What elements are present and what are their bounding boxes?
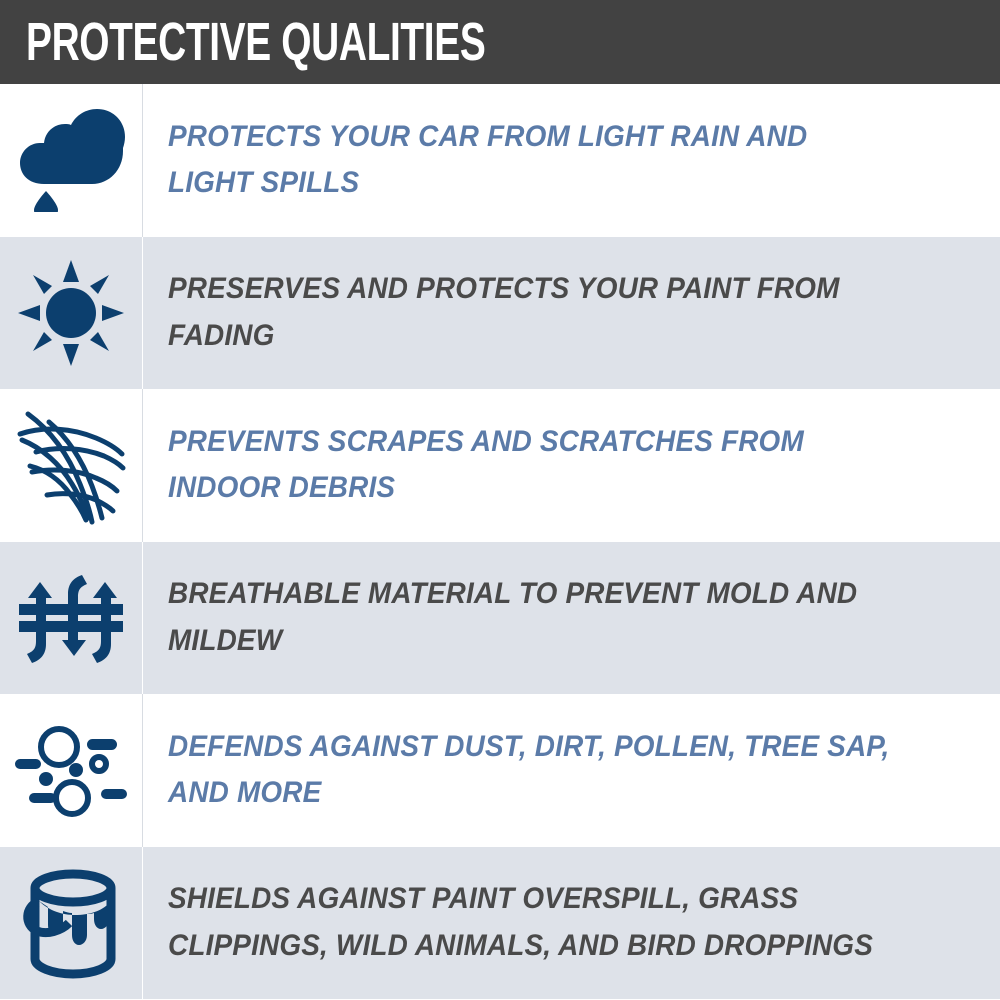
- dust-particles-icon: [13, 719, 129, 821]
- infographic-page: PROTECTIVE QUALITIES PROTECTS YOUR CAR F…: [0, 0, 1000, 1000]
- feature-text: PREVENTS SCRAPES AND SCRATCHES FROM INDO…: [168, 419, 804, 512]
- feature-text: DEFENDS AGAINST DUST, DIRT, POLLEN, TREE…: [168, 724, 889, 817]
- feature-row: PRESERVES AND PROTECTS YOUR PAINT FROM F…: [0, 237, 1000, 390]
- breathable-airflow-icon: [17, 564, 125, 672]
- feature-list: PROTECTS YOUR CAR FROM LIGHT RAIN AND LI…: [0, 84, 1000, 999]
- page-title: PROTECTIVE QUALITIES: [26, 15, 485, 69]
- feature-row: BREATHABLE MATERIAL TO PREVENT MOLD AND …: [0, 542, 1000, 695]
- feature-text: PRESERVES AND PROTECTS YOUR PAINT FROM F…: [168, 266, 840, 359]
- rain-cloud-icon: [16, 108, 126, 212]
- text-cell: PRESERVES AND PROTECTS YOUR PAINT FROM F…: [143, 237, 1000, 390]
- feature-text: SHIELDS AGAINST PAINT OVERSPILL, GRASS C…: [168, 876, 873, 969]
- icon-cell: [0, 847, 143, 1000]
- paint-can-icon: [17, 867, 125, 979]
- icon-cell: [0, 694, 143, 847]
- text-cell: PREVENTS SCRAPES AND SCRATCHES FROM INDO…: [143, 389, 1000, 542]
- text-cell: SHIELDS AGAINST PAINT OVERSPILL, GRASS C…: [143, 847, 1000, 1000]
- icon-cell: [0, 389, 143, 542]
- icon-cell: [0, 84, 143, 237]
- icon-cell: [0, 542, 143, 695]
- feature-row: PREVENTS SCRAPES AND SCRATCHES FROM INDO…: [0, 389, 1000, 542]
- feature-row: SHIELDS AGAINST PAINT OVERSPILL, GRASS C…: [0, 847, 1000, 1000]
- sun-icon: [18, 260, 124, 366]
- feature-row: DEFENDS AGAINST DUST, DIRT, POLLEN, TREE…: [0, 694, 1000, 847]
- feature-text: BREATHABLE MATERIAL TO PREVENT MOLD AND …: [168, 571, 857, 664]
- scratch-mesh-icon: [16, 404, 126, 526]
- text-cell: DEFENDS AGAINST DUST, DIRT, POLLEN, TREE…: [143, 694, 1000, 847]
- header-bar: PROTECTIVE QUALITIES: [0, 0, 1000, 84]
- text-cell: BREATHABLE MATERIAL TO PREVENT MOLD AND …: [143, 542, 1000, 695]
- text-cell: PROTECTS YOUR CAR FROM LIGHT RAIN AND LI…: [143, 84, 1000, 237]
- feature-row: PROTECTS YOUR CAR FROM LIGHT RAIN AND LI…: [0, 84, 1000, 237]
- feature-text: PROTECTS YOUR CAR FROM LIGHT RAIN AND LI…: [168, 114, 807, 207]
- icon-cell: [0, 237, 143, 390]
